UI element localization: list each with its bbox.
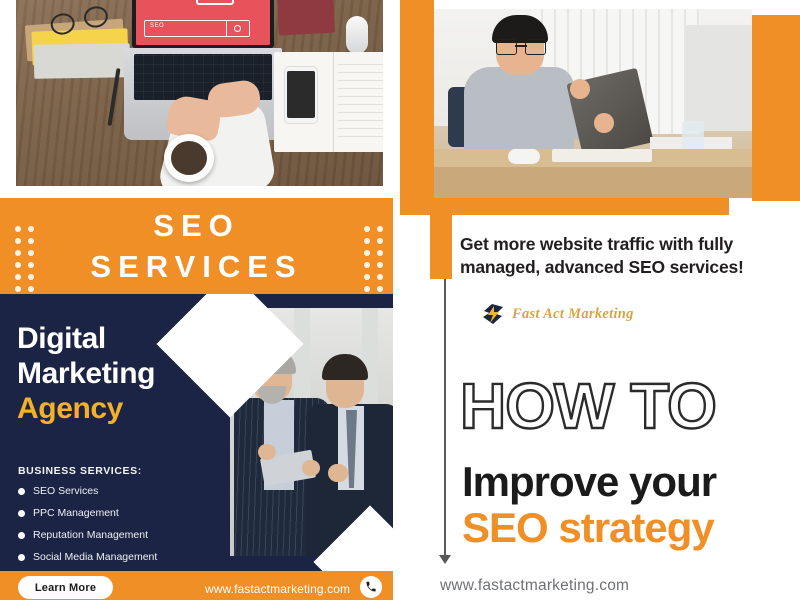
lightning-bolt-icon	[482, 303, 505, 326]
man-tablet-image	[434, 9, 752, 198]
how-to-heading: HOW TO	[460, 375, 716, 438]
laptop-search-bar: SEO	[144, 20, 250, 37]
man-hand-left	[570, 79, 590, 99]
bullet-icon	[18, 488, 25, 495]
bullet-icon	[18, 554, 25, 561]
seo-strategy-heading: SEO strategy	[462, 504, 714, 552]
services-list: SEO Services PPC Management Reputation M…	[18, 485, 157, 573]
website-url[interactable]: www.fastactmarketing.com	[440, 577, 629, 595]
coffee-liquid	[171, 141, 207, 175]
banner-title: SEO SERVICES	[0, 206, 393, 288]
smartphone-icon	[284, 66, 318, 124]
agency-title-line2: Marketing	[17, 356, 155, 391]
eyeglasses-icon	[496, 39, 546, 54]
banner-title-line1: SEO	[0, 206, 393, 247]
agency-title-line3: Agency	[17, 391, 155, 426]
laptop-screen-content: ••• SEO	[136, 0, 270, 45]
notebook-lines	[338, 60, 383, 144]
desktop-monitor	[686, 25, 752, 131]
learn-more-button[interactable]: Learn More	[18, 576, 113, 599]
desk-photo-image: ••• SEO	[16, 0, 383, 186]
orange-bar-right	[752, 15, 800, 201]
orange-bar-bottom	[434, 196, 729, 215]
agency-title: Digital Marketing Agency	[17, 321, 155, 426]
website-url[interactable]: www.fastactmarketing.com	[205, 582, 350, 596]
banner-title-line2: SERVICES	[0, 247, 393, 288]
smartphone-screen	[287, 71, 315, 118]
vertical-divider-line	[444, 279, 446, 559]
agency-footer-bar: Learn More www.fastactmarketing.com	[0, 571, 400, 600]
list-item: PPC Management	[18, 507, 157, 519]
phone-icon[interactable]	[360, 576, 382, 598]
marketing-collage: ••• SEO	[0, 0, 800, 600]
service-label: Reputation Management	[33, 529, 148, 541]
brand-logo: Fast Act Marketing	[482, 303, 634, 326]
magnifier-icon	[226, 21, 249, 36]
seo-services-banner: SEO SERVICES	[0, 192, 400, 294]
laptop-screen: ••• SEO	[132, 0, 274, 48]
orange-accent-tab	[430, 215, 452, 279]
man-hand-right	[594, 113, 614, 133]
bullet-icon	[18, 532, 25, 539]
businessman-1-hand-tablet	[302, 460, 320, 476]
service-label: Social Media Management	[33, 551, 157, 563]
list-item: Social Media Management	[18, 551, 157, 563]
brand-name: Fast Act Marketing	[512, 306, 634, 323]
bullet-icon	[18, 510, 25, 517]
book-red	[277, 0, 335, 35]
mouse-icon	[508, 149, 540, 164]
agency-title-line1: Digital	[17, 321, 155, 356]
man-tablet-panel	[400, 0, 800, 215]
businessman-1-hand-up	[258, 444, 276, 460]
services-label: BUSINESS SERVICES:	[18, 465, 142, 477]
laptop-search-value: SEO	[150, 23, 164, 29]
arrow-down-icon	[439, 555, 451, 564]
desk-front	[434, 167, 752, 198]
orange-bar-left	[400, 0, 434, 215]
service-label: PPC Management	[33, 507, 119, 519]
list-item: SEO Services	[18, 485, 157, 497]
notebook-spine	[333, 52, 334, 152]
agency-panel: Digital Marketing Agency BUSINESS SERVIC…	[0, 294, 400, 600]
mouse-icon	[346, 16, 368, 54]
service-label: SEO Services	[33, 485, 98, 497]
desk-photo-panel: ••• SEO	[0, 0, 390, 192]
keyboard-icon	[552, 149, 652, 162]
water-glass	[682, 121, 704, 151]
list-item: Reputation Management	[18, 529, 157, 541]
traffic-headline: Get more website traffic with fully mana…	[460, 233, 780, 279]
panel-seam	[393, 0, 400, 600]
seo-strategy-panel: Get more website traffic with fully mana…	[400, 215, 800, 600]
improve-heading: Improve your	[462, 458, 716, 506]
chat-bubble-small-icon	[196, 0, 234, 5]
businessman-2-hand	[328, 464, 348, 482]
coffee-cup-icon	[164, 134, 214, 182]
